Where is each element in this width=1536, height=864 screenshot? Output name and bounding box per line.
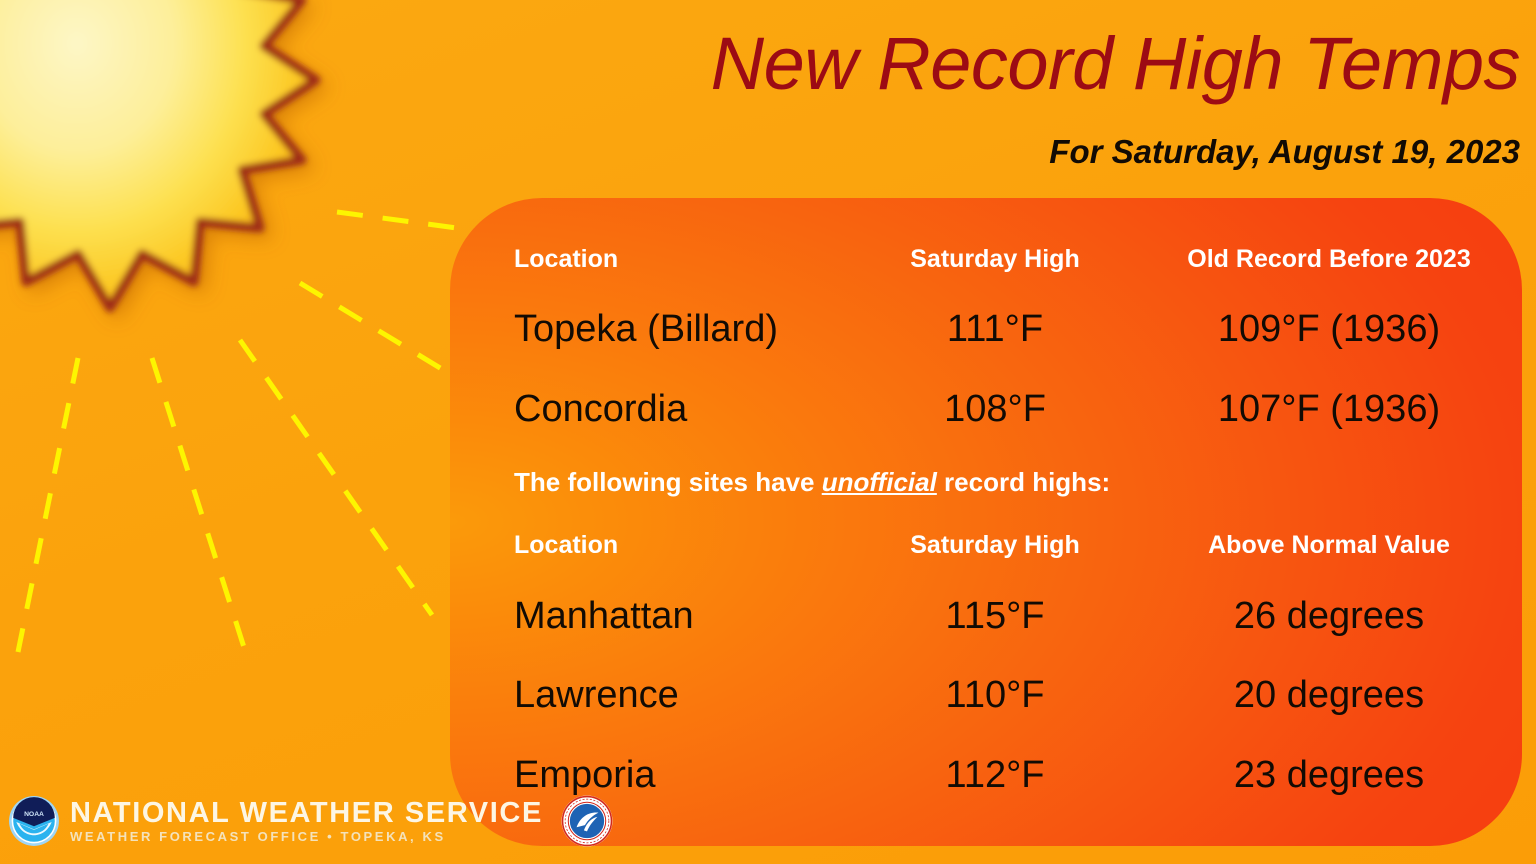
cell-above-normal: 20 degrees (1140, 671, 1518, 719)
footer-agency-name: NATIONAL WEATHER SERVICE (70, 798, 543, 828)
weather-graphic-slide: New Record High Temps For Saturday, Augu… (0, 0, 1536, 864)
official-table-header-row: Location Saturday High Old Record Before… (450, 242, 1522, 276)
cell-high: 115°F (850, 592, 1140, 640)
note-prefix: The following sites have (514, 467, 822, 497)
cell-above-normal: 26 degrees (1140, 592, 1518, 640)
header-location: Location (450, 242, 850, 276)
unofficial-table-header-row: Location Saturday High Above Normal Valu… (450, 528, 1522, 562)
table-row: Concordia 108°F 107°F (1936) (450, 385, 1522, 433)
header-saturday-high: Saturday High (850, 528, 1140, 562)
header-above-normal: Above Normal Value (1140, 528, 1518, 562)
footer-branding: NOAA NATIONAL WEATHER SERVICE WEATHER FO… (8, 792, 613, 850)
cell-high: 108°F (850, 385, 1140, 433)
table-row: Lawrence 110°F 20 degrees (450, 671, 1522, 719)
page-title: New Record High Temps (520, 22, 1520, 106)
noaa-logo-icon: NOAA (8, 795, 60, 847)
nws-seal-icon (561, 795, 613, 847)
cell-record: 109°F (1936) (1140, 305, 1518, 353)
cell-location: Topeka (Billard) (450, 305, 850, 353)
cell-above-normal: 23 degrees (1140, 751, 1518, 799)
cell-high: 111°F (850, 305, 1140, 353)
note-suffix: record highs: (937, 467, 1110, 497)
header-saturday-high: Saturday High (850, 242, 1140, 276)
cell-high: 112°F (850, 751, 1140, 799)
footer-text-block: NATIONAL WEATHER SERVICE WEATHER FORECAS… (70, 798, 543, 845)
cell-location: Manhattan (450, 592, 850, 640)
cell-location: Concordia (450, 385, 850, 433)
footer-office-name: WEATHER FORECAST OFFICE • TOPEKA, KS (70, 828, 543, 845)
header-location: Location (450, 528, 850, 562)
svg-text:NOAA: NOAA (24, 811, 44, 818)
table-row: Topeka (Billard) 111°F 109°F (1936) (450, 305, 1522, 353)
table-row: Manhattan 115°F 26 degrees (450, 592, 1522, 640)
cell-location: Lawrence (450, 671, 850, 719)
unofficial-note: The following sites have unofficial reco… (450, 464, 1522, 500)
page-subtitle: For Saturday, August 19, 2023 (520, 130, 1520, 174)
cell-high: 110°F (850, 671, 1140, 719)
tables-container: Location Saturday High Old Record Before… (450, 198, 1522, 846)
cell-record: 107°F (1936) (1140, 385, 1518, 433)
note-emphasis: unofficial (822, 467, 937, 497)
header-old-record: Old Record Before 2023 (1140, 242, 1518, 276)
